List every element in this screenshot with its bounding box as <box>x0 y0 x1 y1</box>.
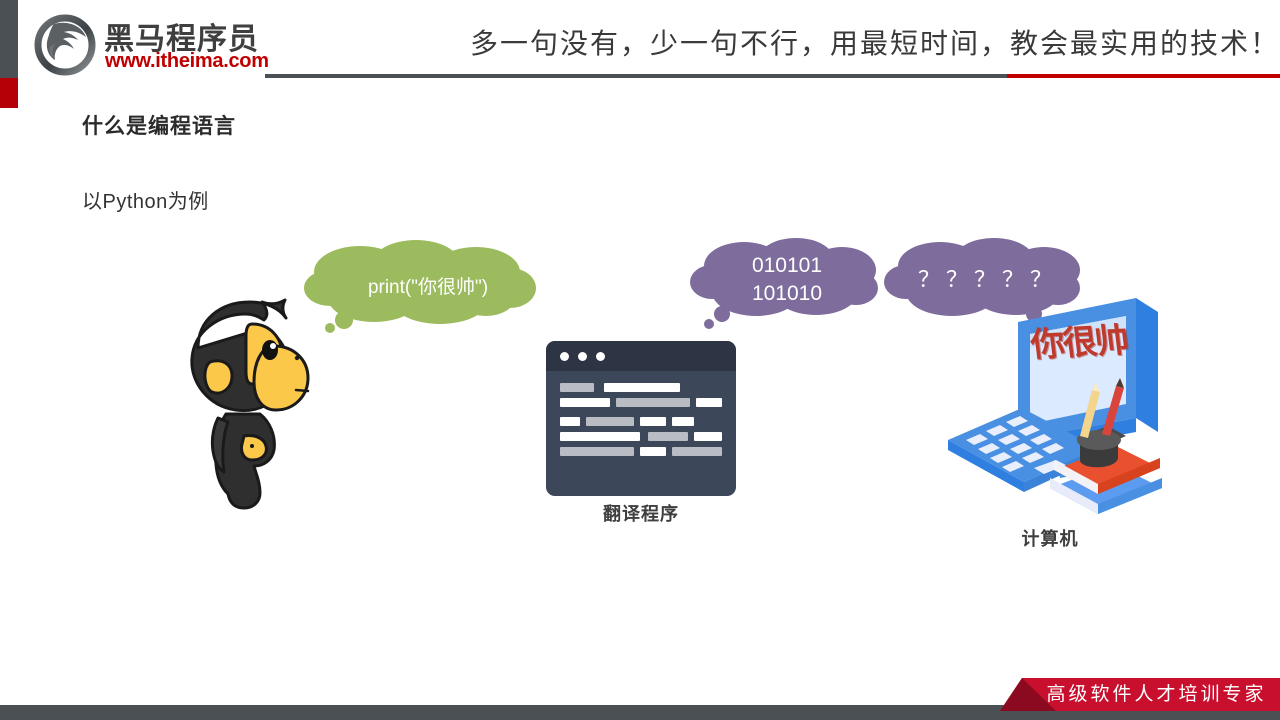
brand-url: www.itheima.com <box>105 50 269 73</box>
code-token <box>560 398 610 407</box>
binary-line-1: 010101 <box>692 252 882 280</box>
code-line-2 <box>560 398 722 407</box>
code-token <box>586 417 634 426</box>
green-thought-bubble: print("你很帅") <box>300 238 540 338</box>
code-token <box>560 432 640 441</box>
code-line-5 <box>560 447 722 456</box>
computer-label: 计算机 <box>940 525 1160 551</box>
window-dot-1-icon <box>560 352 569 361</box>
code-token <box>696 398 722 407</box>
header-slogan: 多一句没有，少一句不行，用最短时间，教会最实用的技术！ <box>470 24 1260 66</box>
code-window-titlebar <box>546 341 736 371</box>
binary-line-2: 101010 <box>692 280 882 308</box>
code-line-4 <box>560 432 722 441</box>
translator-code-window <box>546 341 736 496</box>
code-token <box>560 383 594 392</box>
header-rule-red <box>1007 74 1280 78</box>
binary-bubble-text: 010101 101010 <box>692 252 882 308</box>
code-token <box>616 398 690 407</box>
footer-ribbon-text: 高级软件人才培训专家 <box>1033 678 1280 711</box>
window-dot-2-icon <box>578 352 587 361</box>
monitor-screen-text: 你很帅 <box>1019 306 1140 381</box>
translator-label: 翻译程序 <box>546 500 736 526</box>
code-token <box>648 432 688 441</box>
code-token <box>560 417 580 426</box>
page-subtitle: 以Python为例 <box>82 185 209 214</box>
page-header: 黑马程序员 www.itheima.com 多一句没有，少一句不行，用最短时间，… <box>0 0 1280 110</box>
code-line-1 <box>560 383 722 392</box>
green-bubble-text: print("你很帅") <box>308 272 548 299</box>
header-rule-gray <box>265 74 1007 78</box>
code-line-3 <box>560 417 722 426</box>
code-window-placeholder-lines <box>560 383 722 483</box>
code-token <box>694 432 722 441</box>
code-token <box>560 447 634 456</box>
code-token <box>604 383 680 392</box>
code-token <box>640 447 666 456</box>
page-title: 什么是编程语言 <box>82 110 236 140</box>
header-red-accent-block <box>0 78 18 108</box>
header-gray-accent-block <box>0 0 18 78</box>
window-dot-3-icon <box>596 352 605 361</box>
binary-thought-bubble: 010101 101010 <box>690 234 880 332</box>
code-token <box>672 417 694 426</box>
brand-logo: 黑马程序员 www.itheima.com <box>34 12 264 84</box>
code-token <box>672 447 722 456</box>
horse-head-logo-icon <box>34 14 96 76</box>
code-token <box>640 417 666 426</box>
